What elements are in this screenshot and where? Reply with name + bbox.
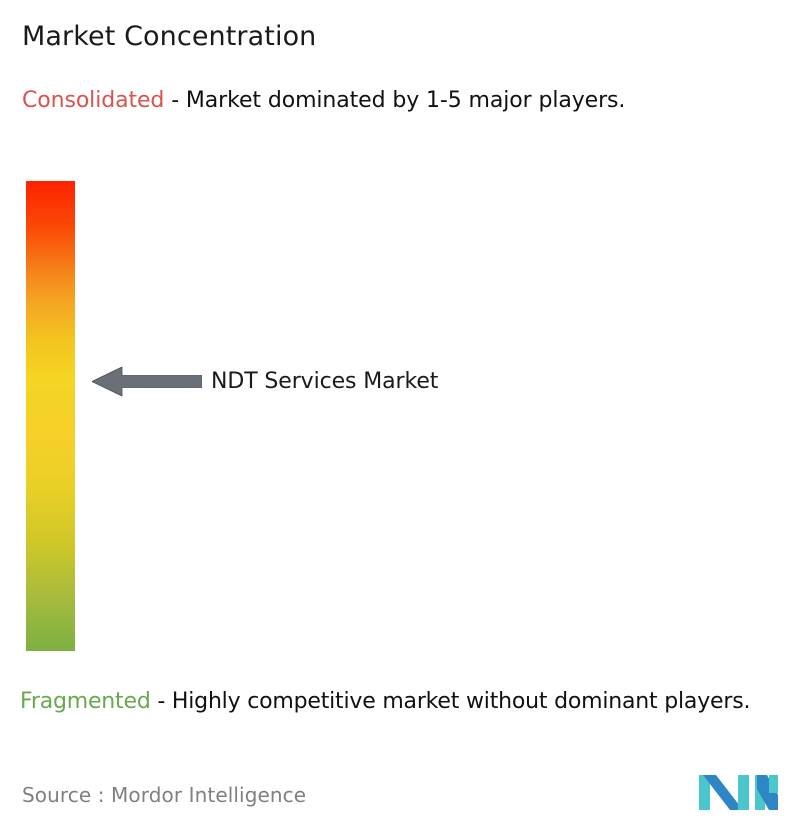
mordor-intelligence-logo-icon — [699, 771, 779, 814]
source-label: Source : Mordor Intelligence — [22, 782, 306, 808]
consolidated-keyword: Consolidated — [22, 88, 164, 113]
page-title: Market Concentration — [22, 20, 316, 54]
fragmented-description-text: - Highly competitive market without domi… — [151, 689, 751, 714]
consolidated-description-text: - Market dominated by 1-5 major players. — [164, 88, 625, 113]
mordor-intelligence-logo — [699, 771, 779, 814]
market-position-label: NDT Services Market — [211, 367, 438, 396]
consolidated-description: Consolidated - Market dominated by 1-5 m… — [22, 85, 778, 116]
concentration-gradient-scale — [26, 181, 75, 651]
left-arrow-icon — [92, 366, 202, 397]
market-concentration-infographic: Market Concentration Consolidated - Mark… — [0, 0, 796, 834]
fragmented-keyword: Fragmented — [20, 689, 151, 714]
fragmented-description: Fragmented - Highly competitive market w… — [20, 686, 786, 717]
market-position-marker — [92, 366, 202, 397]
